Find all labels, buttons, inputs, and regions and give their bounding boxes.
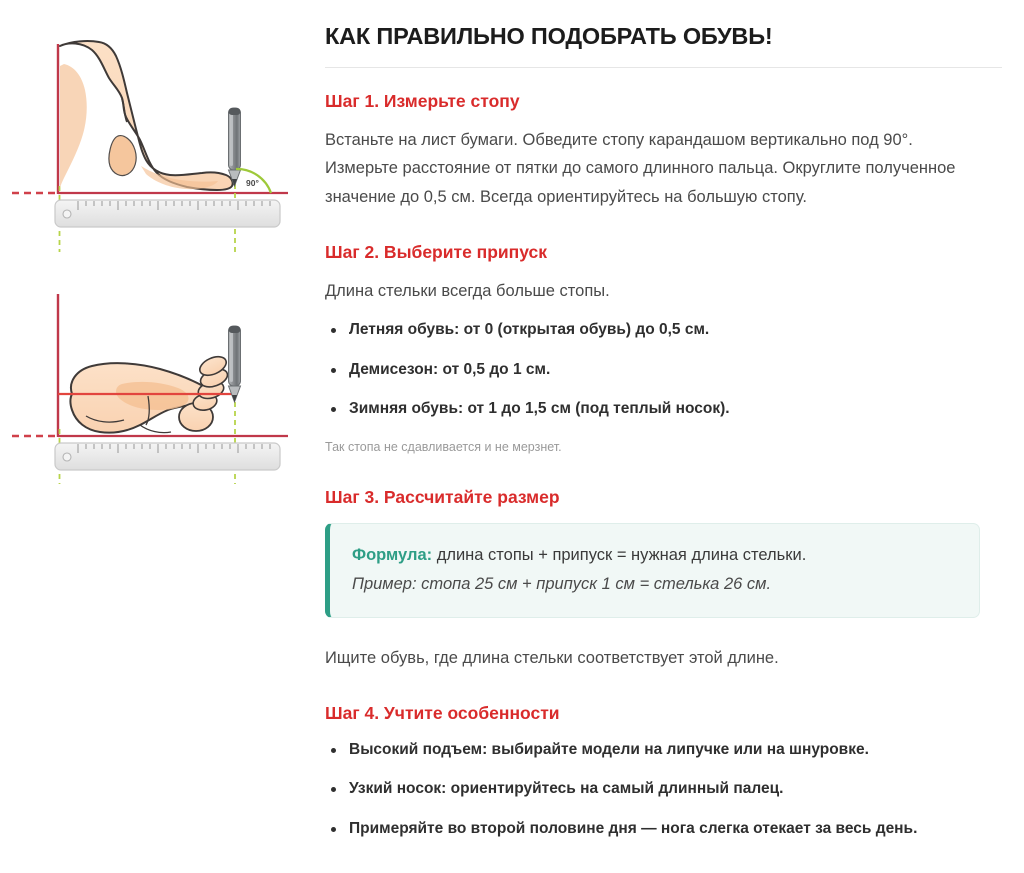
step-3-heading: Шаг 3. Рассчитайте размер (325, 486, 1002, 509)
formula-line: Формула: длина стопы + припуск = нужная … (352, 542, 957, 569)
list-item: Узкий носок: ориентируйтесь на самый дли… (325, 778, 1002, 800)
foot-sole-silhouette (71, 353, 230, 433)
content-column: КАК ПРАВИЛЬНО ПОДОБРАТЬ ОБУВЬ! Шаг 1. Из… (320, 0, 1024, 873)
formula-text: длина стопы + припуск = нужная длина сте… (432, 546, 806, 564)
step-1-section: Шаг 1. Измерьте стопу Встаньте на лист б… (325, 90, 1002, 211)
step-2-heading: Шаг 2. Выберите припуск (325, 241, 1002, 264)
angle-arc: 90° (236, 169, 271, 193)
step-4-section: Шаг 4. Учтите особенности Высокий подъем… (325, 702, 1002, 840)
step-3-section: Шаг 3. Рассчитайте размер Формула: длина… (325, 486, 1002, 672)
step-2-paragraph: Длина стельки всегда больше стопы. (325, 277, 985, 305)
formula-label: Формула: (352, 546, 432, 564)
formula-example: Пример: стопа 25 см + припуск 1 см = сте… (352, 571, 957, 598)
step-3-after-text: Ищите обувь, где длина стельки соответст… (325, 644, 985, 672)
angle-label: 90° (246, 178, 259, 188)
formula-callout: Формула: длина стопы + припуск = нужная … (325, 523, 980, 617)
list-item: Высокий подъем: выбирайте модели на липу… (325, 739, 1002, 761)
title-divider (325, 67, 1002, 68)
step-2-section: Шаг 2. Выберите припуск Длина стельки вс… (325, 241, 1002, 456)
ruler-icon (55, 200, 280, 227)
step-1-heading: Шаг 1. Измерьте стопу (325, 90, 1002, 113)
list-item: Летняя обувь: от 0 (открытая обувь) до 0… (325, 319, 1002, 341)
page-root: 90° (0, 0, 1024, 873)
list-item: Зимняя обувь: от 1 до 1,5 см (под теплый… (325, 398, 1002, 420)
step-4-heading: Шаг 4. Учтите особенности (325, 702, 1002, 725)
step-2-bullet-list: Летняя обувь: от 0 (открытая обувь) до 0… (325, 319, 1002, 420)
foot-side-silhouette (60, 41, 233, 190)
list-item: Демисезон: от 0,5 до 1 см. (325, 359, 1002, 381)
page-title: КАК ПРАВИЛЬНО ПОДОБРАТЬ ОБУВЬ! (325, 22, 1002, 50)
list-item: Примеряйте во второй половине дня — нога… (325, 818, 1002, 840)
pencil-icon (229, 108, 241, 186)
foot-side-view-diagram: 90° (0, 16, 320, 266)
illustration-column: 90° (0, 0, 320, 873)
step-4-bullet-list: Высокий подъем: выбирайте модели на липу… (325, 739, 1002, 840)
step-1-paragraph: Встаньте на лист бумаги. Обведите стопу … (325, 126, 985, 211)
foot-sole-view-diagram (0, 284, 320, 489)
pencil-icon (229, 326, 241, 402)
ruler-icon (55, 443, 280, 470)
step-2-note: Так стопа не сдавливается и не мерзнет. (325, 438, 1002, 457)
